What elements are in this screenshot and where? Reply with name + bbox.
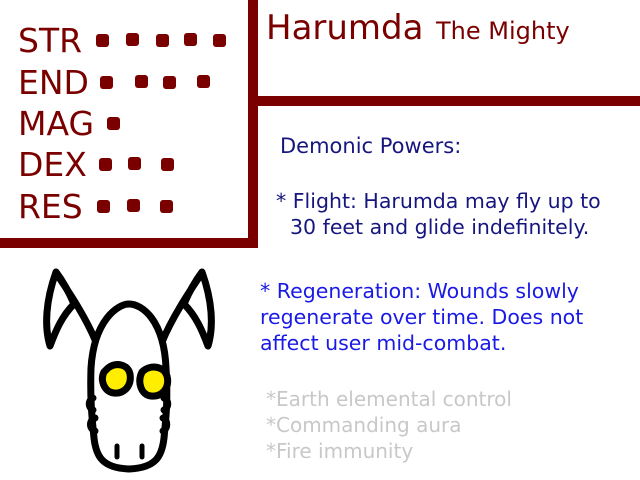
stat-pip[interactable] [135,75,148,88]
powers-panel: Demonic Powers: * Flight: Harumda may fl… [258,106,640,480]
stat-pip[interactable] [107,117,120,130]
stat-pip[interactable] [184,33,197,46]
stat-pip[interactable] [97,200,110,213]
power-entry-regeneration-text: * Regeneration: Wounds slowly regenerate… [260,278,640,356]
snout-notch-right-upper-icon [164,398,168,410]
stat-pip[interactable] [127,199,140,212]
snout-notch-left-upper-icon [89,398,93,410]
power-entry-regeneration[interactable]: * Regeneration: Wounds slowly regenerate… [260,278,640,356]
frame-divider-vertical [248,0,258,248]
power-entry-faded-fire-immunity[interactable]: *Fire immunity [266,438,413,464]
stat-pip[interactable] [156,34,169,47]
character-sheet: STRENDMAGDEXRES Harumda The Mighty Demon… [0,0,640,480]
stat-label-res: RES [18,186,83,228]
stat-pip[interactable] [213,34,226,47]
stat-row-str[interactable]: STR [0,20,248,62]
stat-pip[interactable] [161,158,174,171]
stat-pip[interactable] [163,76,176,89]
stat-row-end[interactable]: END [0,62,248,104]
snout-notch-right-lower-icon [163,418,167,431]
stat-label-str: STR [18,20,82,62]
stat-label-mag: MAG [18,103,94,145]
character-epithet: The Mighty [436,14,570,48]
power-entry-flight[interactable]: * Flight: Harumda may fly up to 30 feet … [276,188,626,240]
stat-pip[interactable] [126,33,139,46]
stat-pip[interactable] [160,200,173,213]
stat-label-end: END [18,62,89,104]
powers-heading: Demonic Powers: [280,134,461,158]
power-entry-faded-earth-elemental-control[interactable]: *Earth elemental control [266,386,512,412]
frame-divider-title-bottom [248,96,640,106]
right-eye-icon [140,367,168,396]
stat-pip[interactable] [100,76,113,89]
stat-block: STRENDMAGDEXRES [0,0,248,238]
stat-pip[interactable] [99,158,112,171]
title-area: Harumda The Mighty [258,0,640,96]
character-name: Harumda [266,8,423,48]
stat-pip[interactable] [96,34,109,47]
power-entry-faded-commanding-aura[interactable]: *Commanding aura [266,412,462,438]
power-entry-flight-text: * Flight: Harumda may fly up to 30 feet … [276,188,626,240]
character-portrait [16,250,248,480]
stat-row-res[interactable]: RES [0,186,248,228]
stat-label-dex: DEX [18,144,87,186]
left-eye-icon [102,365,130,393]
frame-divider-stat-bottom [0,238,258,248]
stat-row-mag[interactable]: MAG [0,103,248,145]
stat-pip[interactable] [197,75,210,88]
stat-pip[interactable] [128,157,141,170]
stat-row-dex[interactable]: DEX [0,144,248,186]
